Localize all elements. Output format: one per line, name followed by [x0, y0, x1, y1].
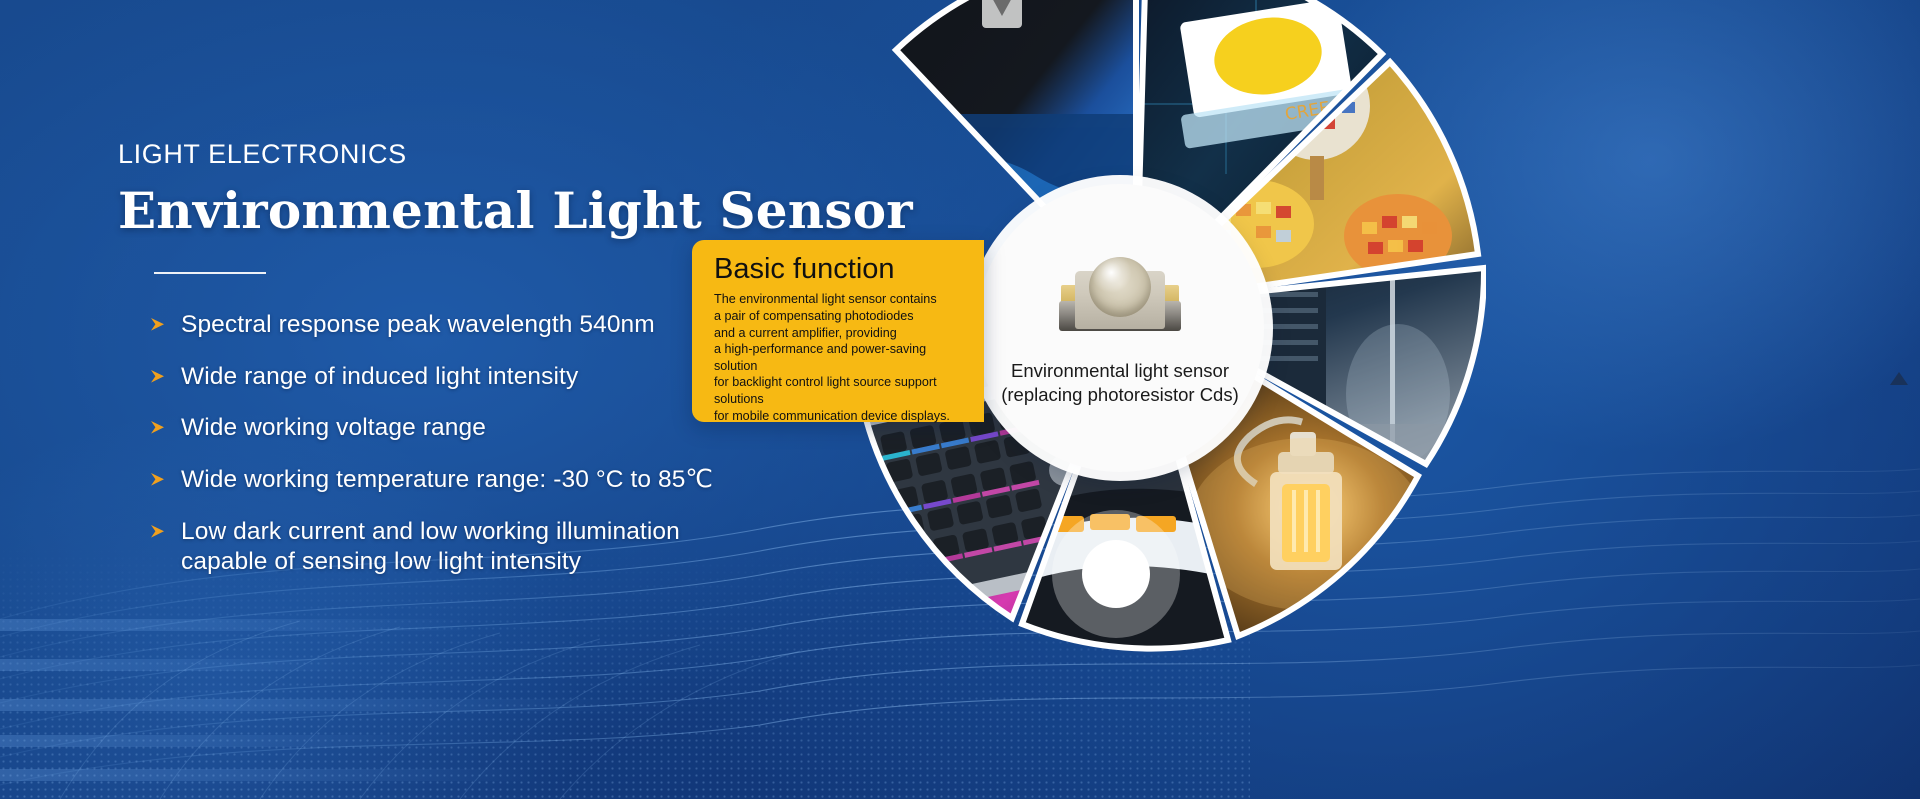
sensor-lens-dome — [1089, 257, 1151, 317]
eyebrow-text: LIGHT ELECTRONICS — [118, 140, 838, 170]
page-title: Environmental Light Sensor — [118, 184, 838, 238]
list-item-label: Wide working temperature range: -30 °C t… — [181, 465, 713, 495]
center-product-disc: Environmental light sensor (replacing ph… — [976, 184, 1264, 472]
horizontal-light-bars — [0, 589, 760, 799]
basic-function-title: Basic function — [714, 254, 968, 284]
product-banner: LIGHT ELECTRONICS Environmental Light Se… — [0, 0, 1920, 799]
list-item-label: Spectral response peak wavelength 540nm — [181, 310, 655, 340]
product-caption: Environmental light sensor (replacing ph… — [1001, 359, 1239, 406]
arrow-bullet-icon — [150, 524, 167, 539]
list-item: Wide working temperature range: -30 °C t… — [150, 465, 838, 495]
list-item-label: Wide working voltage range — [181, 413, 486, 443]
scroll-up-arrow-icon[interactable] — [1890, 372, 1908, 385]
arrow-bullet-icon — [150, 420, 167, 435]
sensor-product-image — [1045, 249, 1195, 345]
arrow-bullet-icon — [150, 317, 167, 332]
title-divider — [154, 272, 266, 274]
basic-function-panel: Basic function The environmental light s… — [692, 240, 984, 422]
arrow-bullet-icon — [150, 472, 167, 487]
list-item: Low dark current and low working illumin… — [150, 517, 838, 577]
arrow-bullet-icon — [150, 369, 167, 384]
list-item-label: Wide range of induced light intensity — [181, 362, 578, 392]
basic-function-body: The environmental light sensor contains … — [714, 291, 968, 424]
list-item-label: Low dark current and low working illumin… — [181, 517, 680, 577]
